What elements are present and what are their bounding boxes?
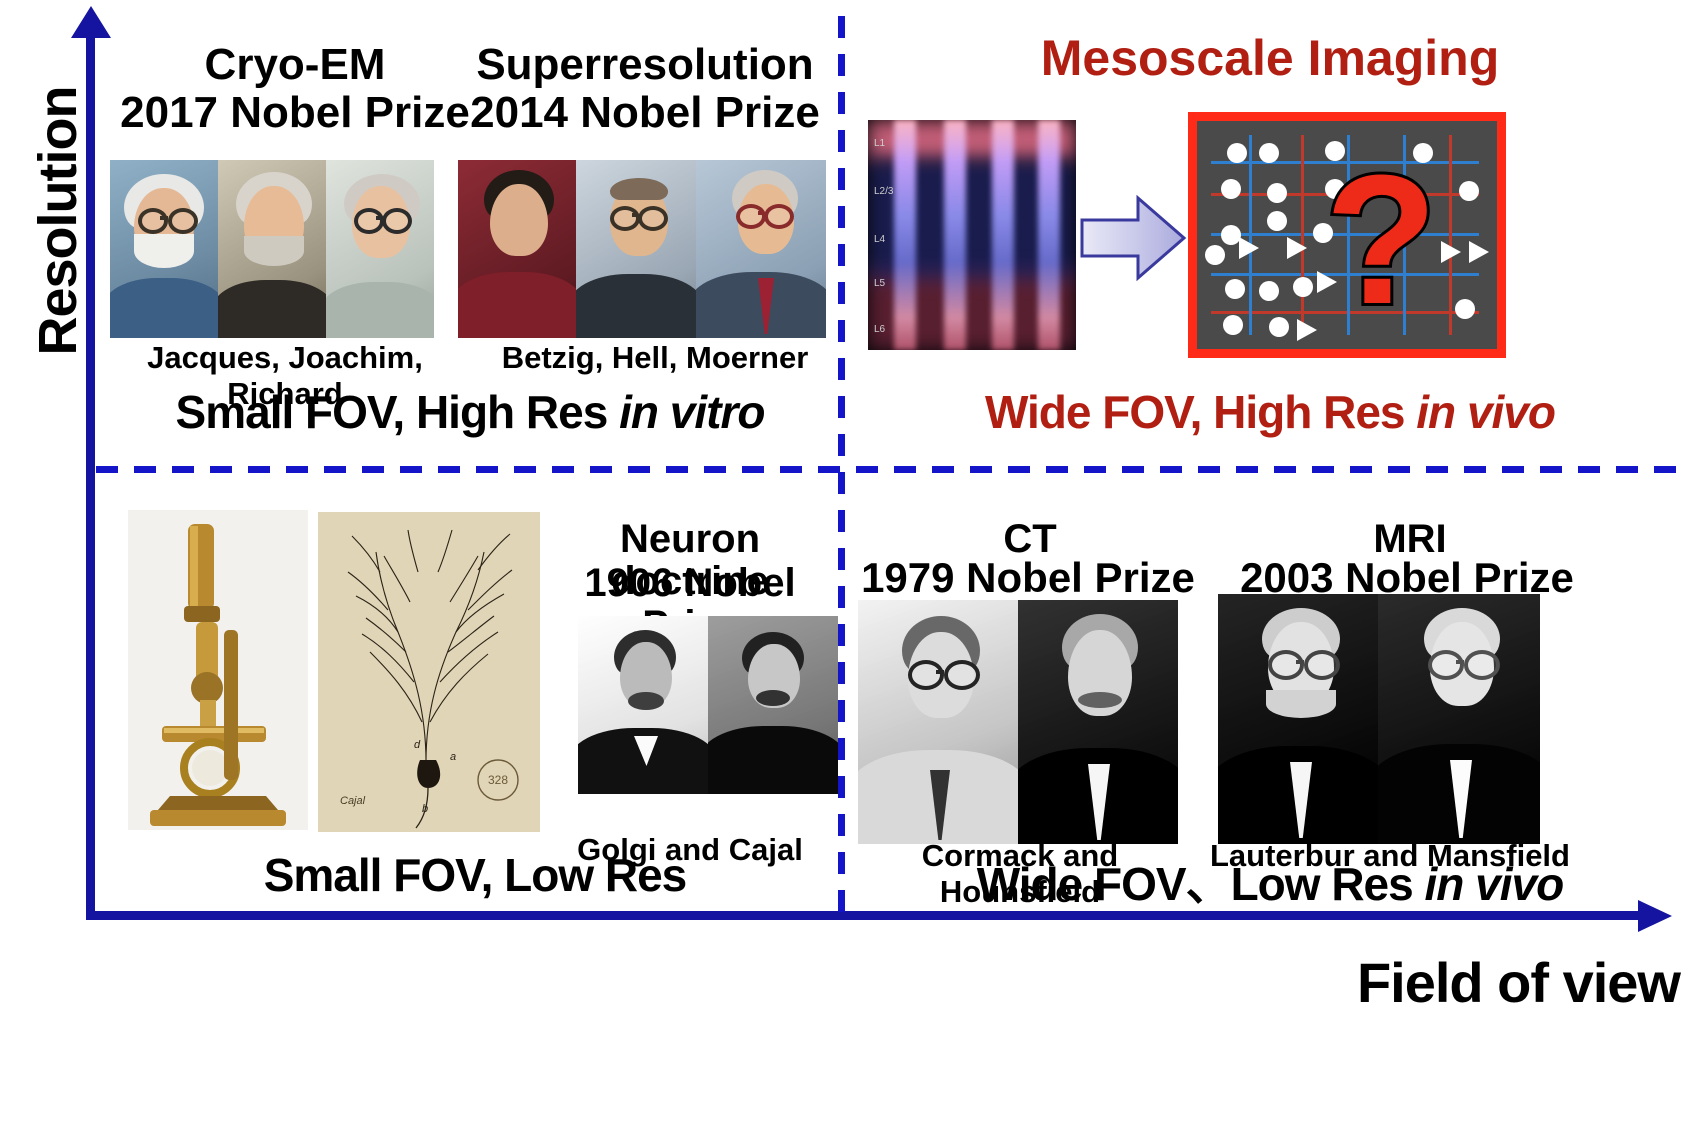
y-axis-arrowhead-icon [71, 6, 111, 38]
photo-peter-mansfield [1378, 594, 1540, 844]
svg-text:Cajal: Cajal [340, 795, 366, 807]
quadrant-label-top-right-italic: in vivo [1416, 386, 1555, 438]
superres-title-line2: 2014 Nobel Prize [455, 90, 835, 137]
svg-text:b: b [422, 803, 428, 815]
image-antique-microscope [128, 510, 308, 830]
photo-camillo-golgi [578, 616, 708, 794]
photo-godfrey-hounsfield [1018, 600, 1178, 844]
mesoscale-title: Mesoscale Imaging [900, 32, 1640, 85]
image-cortical-column: L1 L2/3 L4 L5 L6 [868, 120, 1076, 350]
quadrant-label-bottom-right: Wide FOV、Low Res in vivo [850, 848, 1690, 914]
image-cortical-circuit: ? [1188, 112, 1506, 358]
quadrant-label-bottom-right-main: Wide FOV、Low Res [977, 858, 1425, 910]
quadrant-label-top-right-main: Wide FOV, High Res [985, 386, 1416, 438]
ct-title-line2: 1979 Nobel Prize [858, 556, 1198, 601]
photo-stefan-hell [576, 160, 696, 338]
right-arrow-icon [1078, 190, 1188, 286]
photo-santiago-ramon-y-cajal [708, 616, 838, 794]
photo-paul-lauterbur [1218, 594, 1378, 844]
svg-text:d: d [414, 739, 421, 751]
quadrant-figure: Resolution Field of view Cryo-EM 2017 No… [0, 0, 1698, 1126]
quadrant-label-top-left-main: Small FOV, High Res [176, 386, 620, 438]
svg-text:a: a [450, 751, 456, 763]
photo-richard-henderson [326, 160, 434, 338]
photo-eric-betzig [458, 160, 576, 338]
x-axis-label: Field of view [1060, 950, 1680, 1015]
superres-caption: Betzig, Hell, Moerner [480, 340, 830, 376]
vertical-divider [838, 16, 845, 914]
photo-jacques-dubochet [110, 160, 218, 338]
cryoem-title-line1: Cryo-EM [110, 42, 480, 89]
photo-allan-cormack [858, 600, 1018, 844]
quadrant-label-bottom-right-italic: in vivo [1425, 858, 1564, 910]
quadrant-label-top-left-italic: in vitro [619, 386, 764, 438]
quadrant-label-top-left: Small FOV, High Res in vitro [100, 385, 840, 439]
horizontal-divider [96, 466, 1690, 473]
quadrant-label-top-right: Wide FOV, High Res in vivo [850, 385, 1690, 439]
quadrant-label-bottom-left: Small FOV, Low Res [110, 848, 840, 902]
photo-joachim-frank [218, 160, 326, 338]
image-cajal-drawing: d a b 328 Cajal [318, 512, 540, 832]
question-mark: ? [1325, 149, 1437, 329]
photo-william-moerner [696, 160, 826, 338]
cryoem-title-line2: 2017 Nobel Prize [80, 90, 510, 137]
superres-title-line1: Superresolution [450, 42, 840, 89]
svg-text:328: 328 [488, 773, 508, 787]
